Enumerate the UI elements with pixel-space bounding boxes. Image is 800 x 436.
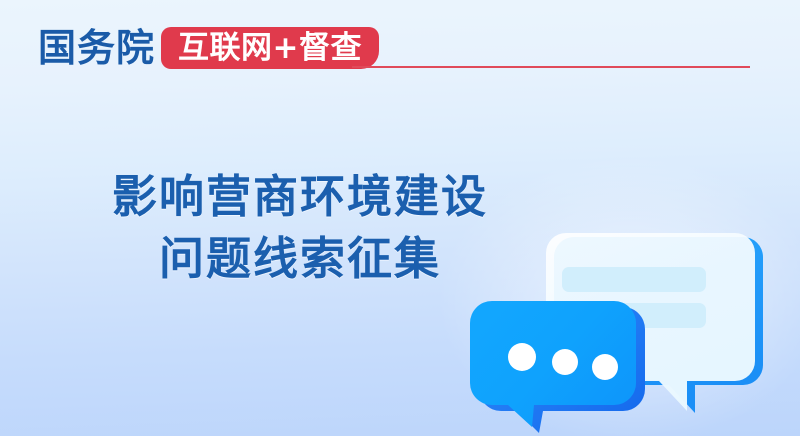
banner-header: 国务院 互联网+督查	[0, 0, 800, 86]
program-badge-label: 互联网+督查	[178, 31, 362, 65]
typing-dot-1	[508, 343, 536, 371]
chat-bubbles-illustration	[470, 215, 800, 436]
program-badge: 互联网+督查	[161, 27, 379, 69]
banner: 国务院 互联网+督查 影响营商环境建设 问题线索征集	[0, 0, 800, 436]
header-divider-rule	[352, 66, 750, 68]
typing-dot-2	[552, 349, 578, 375]
typing-dot-3	[592, 354, 618, 380]
org-title: 国务院	[38, 26, 155, 70]
bubble-text-bar-1	[562, 267, 706, 292]
